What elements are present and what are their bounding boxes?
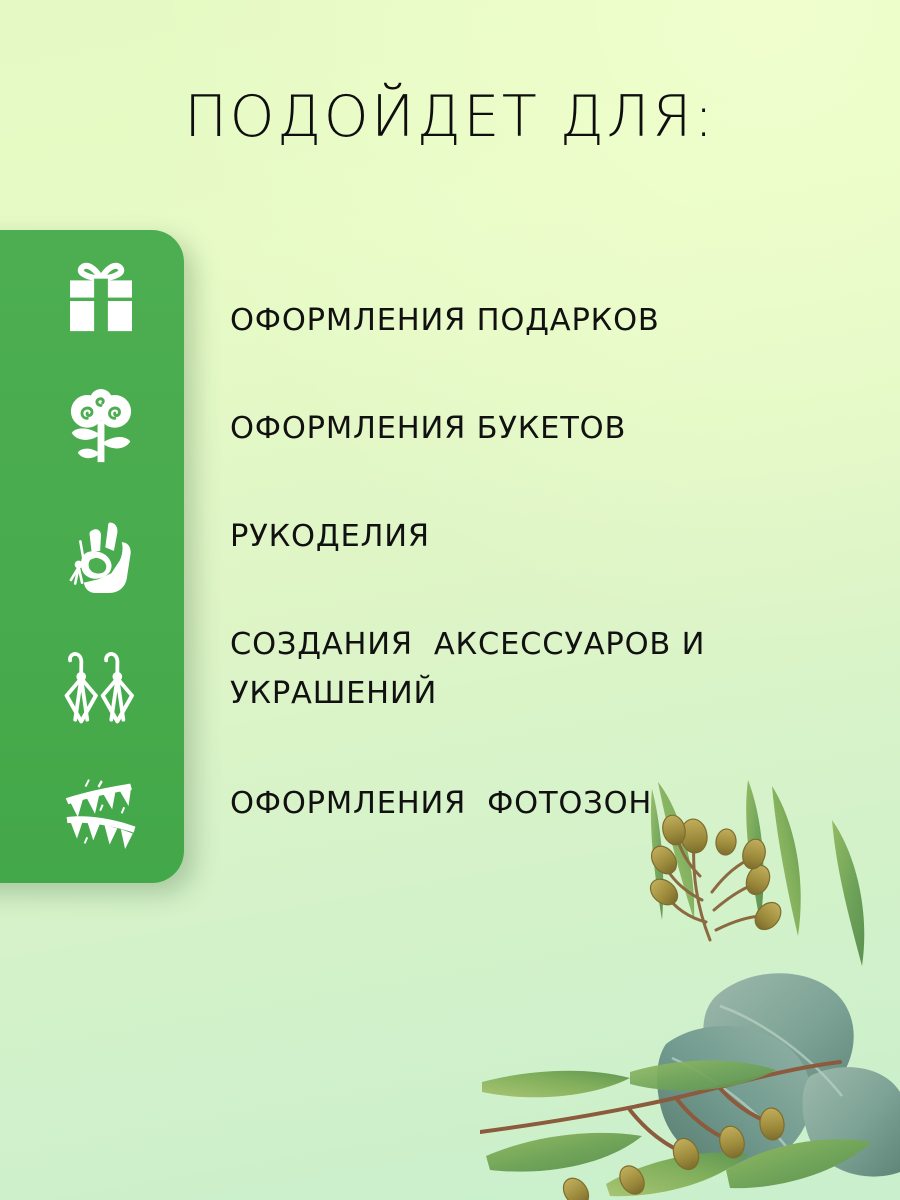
earrings-icon <box>58 644 144 730</box>
list-item: ОФОРМЛЕНИЯ ПОДАРКОВ <box>230 296 870 345</box>
icon-slot-bouquet <box>40 361 162 492</box>
icon-slot-bunting <box>40 752 162 883</box>
bouquet-icon <box>58 383 144 469</box>
gift-icon <box>58 252 144 338</box>
benefit-list: ОФОРМЛЕНИЯ ПОДАРКОВ ОФОРМЛЕНИЯ БУКЕТОВ Р… <box>230 230 870 883</box>
icon-slot-gift <box>40 230 162 361</box>
bunting-icon <box>58 775 144 861</box>
list-item: ОФОРМЛЕНИЯ БУКЕТОВ <box>230 404 870 453</box>
list-item: РУКОДЕЛИЯ <box>230 512 870 561</box>
icon-panel <box>0 230 184 883</box>
icon-slot-handcraft <box>40 491 162 622</box>
page-title: ПОДОЙДЕТ ДЛЯ: <box>0 84 900 150</box>
list-item: ОФОРМЛЕНИЯ ФОТОЗОН <box>230 779 870 828</box>
icon-slot-earrings <box>40 622 162 753</box>
list-item: СОЗДАНИЯ АКСЕССУАРОВ И УКРАШЕНИЙ <box>230 620 870 719</box>
handcraft-icon <box>58 513 144 599</box>
poster-canvas: ПОДОЙДЕТ ДЛЯ: <box>0 0 900 1200</box>
